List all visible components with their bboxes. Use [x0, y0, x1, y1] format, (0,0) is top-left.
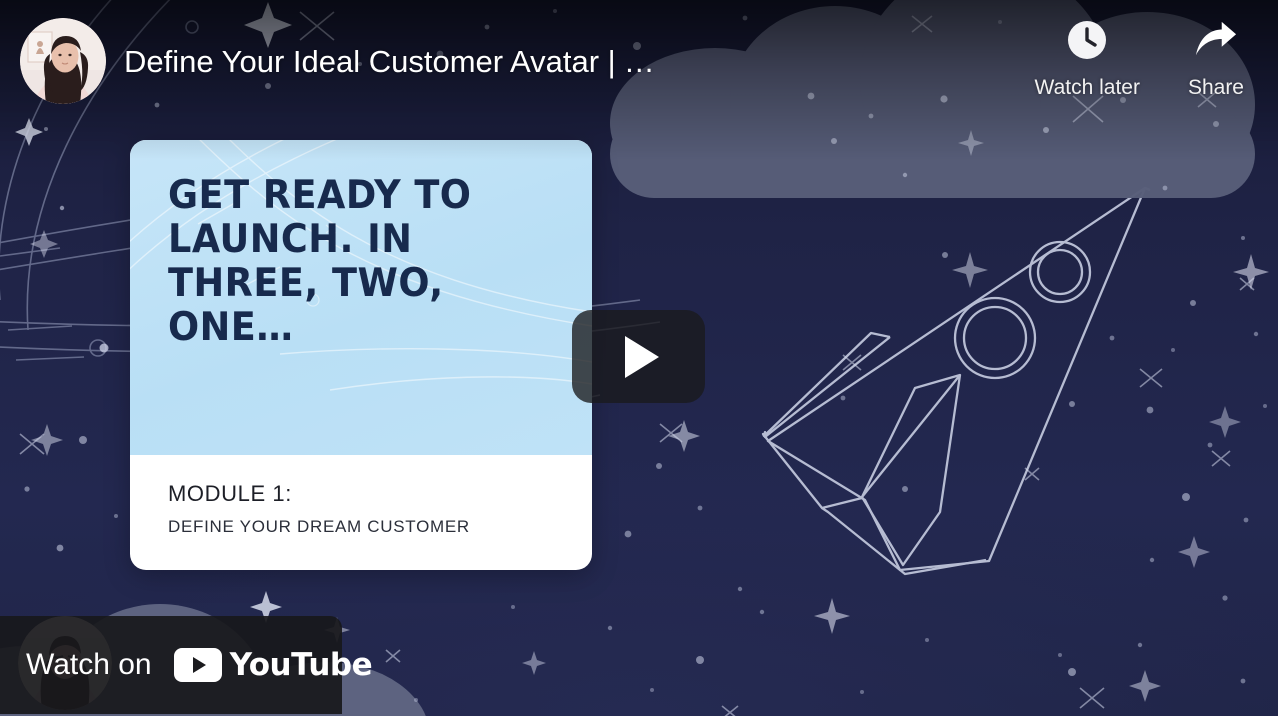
card-module-panel: MODULE 1: DEFINE YOUR DREAM CUSTOMER: [130, 455, 592, 537]
watch-on-label: Watch on: [26, 648, 152, 682]
avatar-image: [20, 18, 106, 104]
share-button[interactable]: Share: [1182, 18, 1250, 100]
play-icon: [625, 336, 659, 378]
youtube-video-player[interactable]: GET READY TO LAUNCH. IN THREE, TWO, ONE……: [0, 0, 1278, 716]
youtube-logo-icon: YouTube: [174, 647, 373, 683]
watch-on-youtube-button[interactable]: Watch on YouTube: [0, 616, 342, 714]
watch-later-label: Watch later: [1035, 76, 1140, 100]
youtube-play-triangle: [193, 657, 206, 673]
course-thumbnail-card: GET READY TO LAUNCH. IN THREE, TWO, ONE……: [130, 140, 592, 570]
youtube-play-box: [174, 648, 222, 682]
youtube-wordmark: YouTube: [230, 647, 373, 683]
player-top-bar: Define Your Ideal Customer Avatar | The …: [0, 0, 1278, 130]
play-button[interactable]: [572, 310, 705, 403]
card-headline-panel: GET READY TO LAUNCH. IN THREE, TWO, ONE…: [130, 140, 592, 455]
share-arrow-icon: [1194, 18, 1238, 62]
player-actions: Watch later Share: [1029, 18, 1256, 100]
channel-avatar[interactable]: [20, 18, 106, 104]
card-headline-text: GET READY TO LAUNCH. IN THREE, TWO, ONE…: [168, 174, 533, 350]
card-module-subtitle: DEFINE YOUR DREAM CUSTOMER: [168, 517, 556, 537]
card-module-label: MODULE 1:: [168, 481, 556, 507]
video-title[interactable]: Define Your Ideal Customer Avatar | The …: [124, 42, 664, 82]
share-label: Share: [1188, 76, 1244, 100]
watch-later-button[interactable]: Watch later: [1029, 18, 1146, 100]
clock-icon: [1065, 18, 1109, 62]
